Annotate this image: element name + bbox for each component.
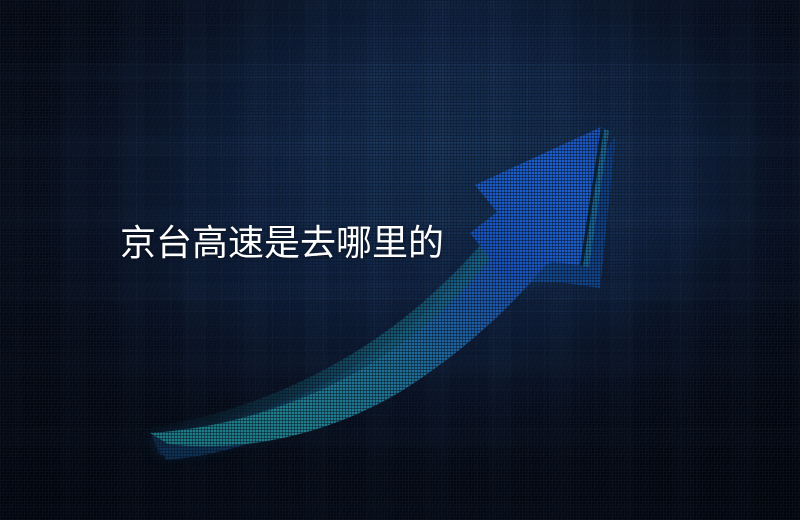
page-title: 京台高速是去哪里的: [120, 219, 444, 269]
article-banner: 京台高速是去哪里的: [0, 0, 800, 520]
